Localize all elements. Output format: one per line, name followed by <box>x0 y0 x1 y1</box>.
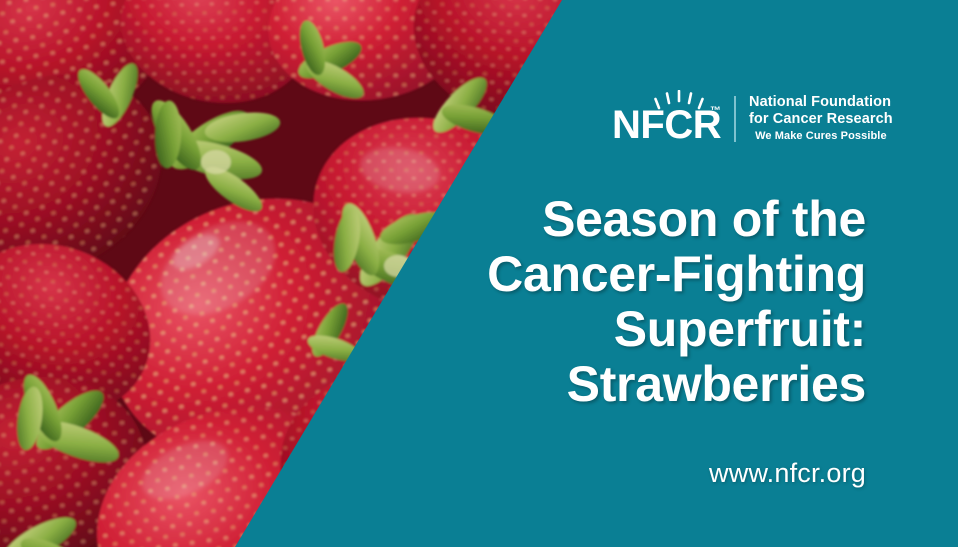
website-url[interactable]: www.nfcr.org <box>709 457 866 489</box>
headline-line-4: Strawberries <box>306 357 866 412</box>
banner-content: NFCR ™ National Foundation for Cancer Re… <box>0 0 958 547</box>
headline: Season of the Cancer-Fighting Superfruit… <box>306 192 866 412</box>
headline-line-2: Cancer-Fighting <box>306 247 866 302</box>
logo-tagline: We Make Cures Possible <box>749 128 893 144</box>
logo-name-line-1: National Foundation <box>749 94 893 111</box>
nfcr-wordmark: NFCR <box>612 104 721 146</box>
trademark-symbol: ™ <box>710 106 721 117</box>
logo-name-line-2: for Cancer Research <box>749 111 893 128</box>
logo-divider <box>734 96 736 142</box>
nfcr-logo[interactable]: NFCR ™ National Foundation for Cancer Re… <box>612 88 893 150</box>
logo-text-block: National Foundation for Cancer Research … <box>749 94 893 144</box>
headline-line-3: Superfruit: <box>306 302 866 357</box>
nfcr-strawberries-banner: NFCR ™ National Foundation for Cancer Re… <box>0 0 958 547</box>
nfcr-logo-mark: NFCR ™ <box>612 90 720 148</box>
headline-line-1: Season of the <box>306 192 866 247</box>
